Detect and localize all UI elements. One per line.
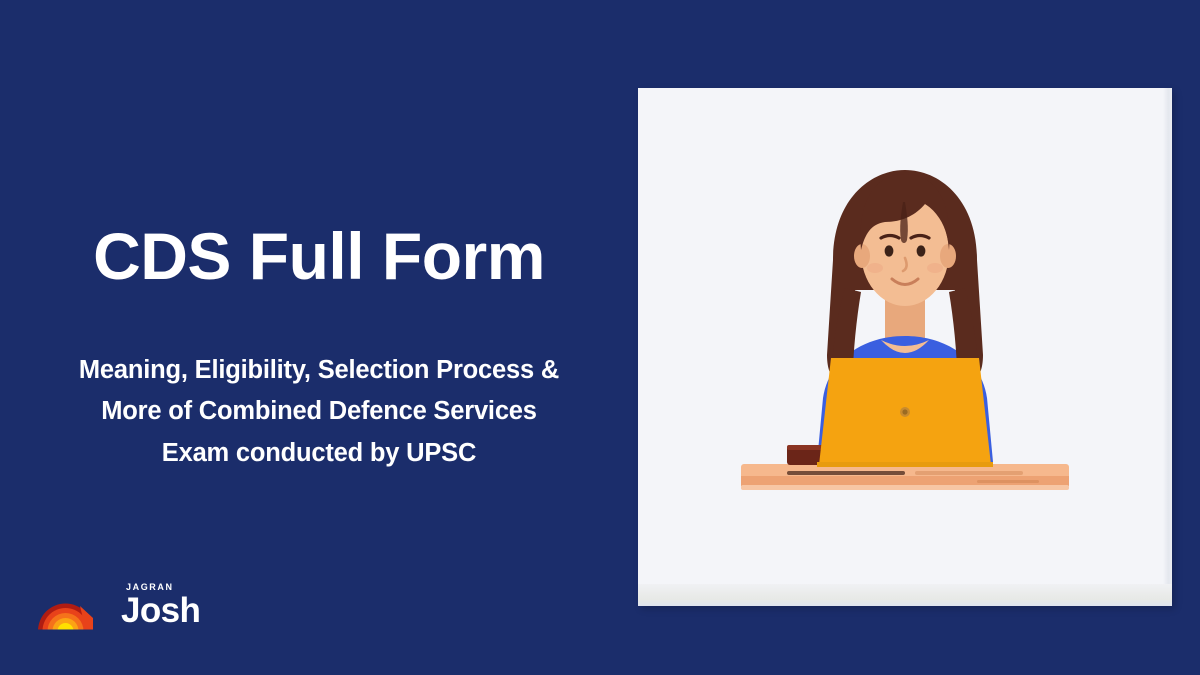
- card-bottom-edge: [638, 584, 1172, 606]
- page-subtitle: Meaning, Eligibility, Selection Process …: [14, 350, 624, 474]
- subtitle-line-2: More of Combined Defence Services: [14, 391, 624, 432]
- logo-josh-text: Josh: [121, 592, 200, 631]
- illustration-card: [638, 88, 1172, 606]
- woman-at-laptop-illustration: [725, 140, 1085, 530]
- text-block: CDS Full Form Meaning, Eligibility, Sele…: [0, 0, 638, 675]
- sunrise-icon: [38, 595, 93, 631]
- logo-wordmark: JAGRAN Josh: [87, 582, 213, 640]
- jagran-josh-logo[interactable]: JAGRAN Josh: [38, 582, 213, 642]
- page-title: CDS Full Form: [0, 222, 638, 291]
- card-right-edge: [1163, 88, 1172, 606]
- subtitle-line-1: Meaning, Eligibility, Selection Process …: [14, 350, 624, 391]
- promo-banner: CDS Full Form Meaning, Eligibility, Sele…: [0, 0, 1200, 675]
- subtitle-line-3: Exam conducted by UPSC: [14, 433, 624, 474]
